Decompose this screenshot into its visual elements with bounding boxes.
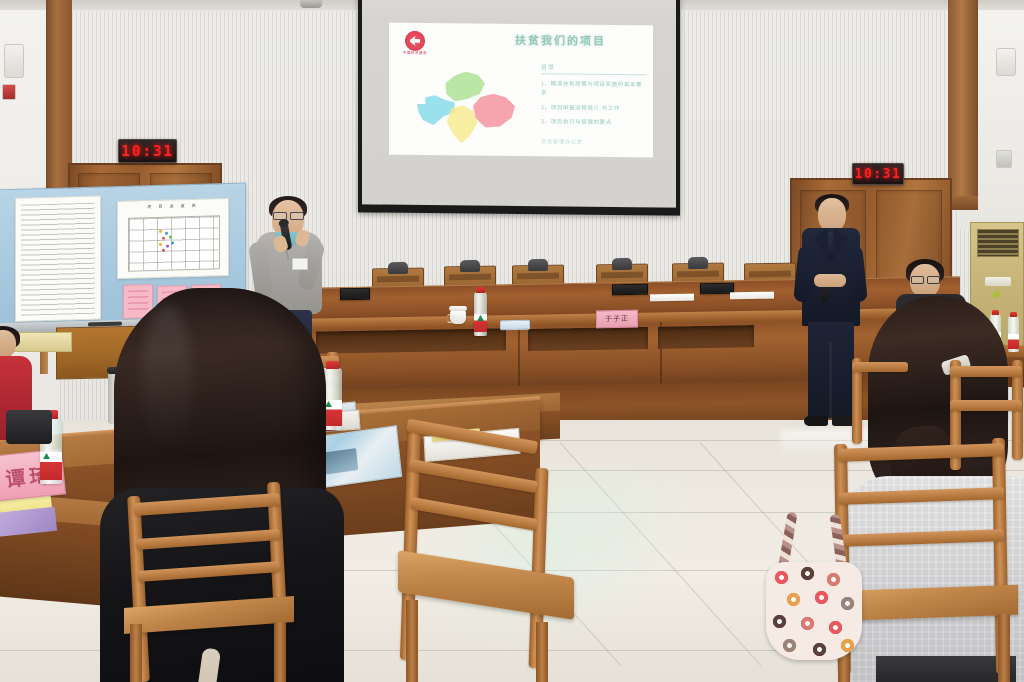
slide-body: 目录 1、精准扶贫政策与项目实施的基本要求 2、项目申报流程简介 与工作 3、项… (541, 62, 647, 133)
sticker-dot (159, 243, 162, 246)
chair-seat (124, 596, 294, 634)
water-bottle[interactable] (474, 292, 487, 336)
chair-slat (950, 400, 1022, 411)
suitman-head (818, 198, 846, 232)
wooden-beam-right-lower (948, 196, 978, 210)
flower-motif-icon (782, 638, 797, 653)
puzzle-piece-graphic (417, 67, 517, 146)
flower-motif-icon (800, 566, 815, 581)
slide-footer: 项目管理办公室 (541, 138, 583, 145)
chair-slat (838, 529, 1004, 547)
chair-headrest (388, 262, 408, 274)
flower-motif-icon (840, 596, 855, 611)
desk-divider (518, 324, 520, 386)
puzzle-piece-red (473, 94, 515, 128)
name-badge (292, 258, 308, 270)
chair-slat (138, 561, 280, 582)
ac-control-panel[interactable] (985, 277, 1011, 286)
wall-fixture-right-icon (996, 48, 1016, 76)
slide-divider (541, 73, 647, 75)
flower-motif-icon (800, 616, 815, 631)
dress-shoe-left (804, 416, 828, 426)
sticker-dot (166, 245, 169, 248)
wall-sensor-icon (996, 150, 1012, 168)
cup-lid (449, 306, 467, 311)
flower-motif-icon (828, 620, 843, 635)
digital-clock-right: 10:31 (852, 163, 904, 185)
org-logo-icon: 中国扶贫基金 (401, 31, 429, 57)
chair-slat (410, 497, 538, 531)
redperson-head (0, 330, 16, 358)
glasses-icon (910, 276, 940, 282)
chair-headrest (460, 260, 480, 272)
flower-motif-icon (774, 570, 789, 585)
chair-headrest (528, 259, 548, 271)
sticker-dot (169, 236, 172, 239)
laptop[interactable] (340, 288, 370, 301)
projector-mount (300, 0, 322, 8)
desk-cubby (528, 327, 648, 351)
clock-time-display: 10:31 (121, 142, 174, 160)
chair-slat (136, 529, 280, 550)
slide-bullet: 1、精准扶贫政策与项目实施的基本要求 (541, 80, 647, 100)
black-bag (6, 410, 52, 444)
bottle-label (474, 314, 487, 332)
slide-subtitle: 目录 (541, 62, 647, 72)
sticker-dot (171, 241, 174, 244)
wooden-chair-right-mid[interactable] (852, 358, 916, 448)
chair-seat (398, 550, 574, 620)
wooden-chair-center-foreground[interactable] (396, 424, 566, 682)
grid-chart-table (128, 215, 220, 272)
floral-handbag[interactable] (766, 520, 862, 660)
wooden-beam-right (948, 0, 978, 210)
chair-leg (130, 624, 142, 682)
laptop[interactable] (612, 284, 648, 296)
chair-leg (406, 600, 418, 682)
poster-grid-chart: 项 目 进 度 表 (117, 198, 229, 279)
tea-cup[interactable] (450, 310, 466, 324)
chair-leg (536, 622, 548, 682)
sticker-dot (165, 232, 168, 235)
laptop[interactable] (700, 283, 734, 295)
suitman-hands-crossed (814, 274, 846, 287)
chair-slat (838, 487, 1004, 505)
chair-slat (852, 362, 908, 372)
chair-slat (134, 493, 281, 516)
chair-headrest (612, 258, 632, 270)
wall-speaker-icon (4, 44, 24, 78)
chair-leg (274, 622, 286, 682)
slide-bullet: 3、项目执行与管理的要点 (541, 118, 647, 128)
flower-motif-icon (814, 590, 829, 605)
desk-papers (730, 292, 774, 300)
chair-leg (998, 614, 1010, 682)
conference-room-photo: 中国扶贫基金 扶贫我们的项目 目录 1、精准扶贫政策与项目实施的基本要求 2、项… (0, 0, 1024, 682)
desk-name-card: 于子正 (596, 310, 638, 329)
tissue-box[interactable] (500, 320, 530, 331)
flower-motif-icon (812, 642, 827, 657)
slide-bullet: 2、项目申报流程简介 与工作 (541, 104, 647, 114)
chair-slat (408, 459, 538, 493)
screen-surface: 中国扶贫基金 扶贫我们的项目 目录 1、精准扶贫政策与项目实施的基本要求 2、项… (362, 0, 676, 208)
chair-slat (950, 366, 1022, 377)
desk-name-card-label: 于子正 (605, 314, 629, 324)
chair-slat (838, 443, 1004, 462)
clock-time-display: 10:31 (855, 167, 902, 182)
flower-motif-icon (772, 614, 787, 629)
puzzle-piece-green (443, 71, 485, 101)
bottle-cap (476, 287, 485, 293)
fire-alarm-icon (2, 84, 16, 100)
bag-body (766, 562, 862, 660)
desk-papers (650, 294, 694, 302)
flower-motif-icon (786, 592, 801, 607)
bottle-label (40, 452, 62, 480)
presentation-slide: 中国扶贫基金 扶贫我们的项目 目录 1、精准扶贫政策与项目实施的基本要求 2、项… (389, 23, 653, 158)
grid-chart-title: 项 目 进 度 表 (118, 202, 228, 211)
flower-motif-icon (826, 572, 841, 587)
chair-headrest (688, 257, 708, 269)
ac-vent-grille-icon (977, 229, 1019, 257)
flower-motif-icon (840, 638, 855, 653)
sticker-dot (159, 230, 162, 233)
chair-slat (406, 419, 538, 455)
sticker-dot (162, 249, 165, 252)
desk-cubby (658, 325, 754, 349)
digital-clock-left: 10:31 (118, 139, 177, 163)
wooden-chair-left-foreground[interactable] (110, 482, 306, 682)
projection-screen: 中国扶贫基金 扶贫我们的项目 目录 1、精准扶贫政策与项目实施的基本要求 2、项… (358, 0, 680, 216)
sticker-dot (162, 237, 165, 240)
slide-title: 扶贫我们的项目 (473, 32, 648, 50)
seated-person-red (0, 330, 46, 450)
logo-caption: 中国扶贫基金 (401, 51, 429, 56)
glasses-icon (272, 212, 304, 218)
